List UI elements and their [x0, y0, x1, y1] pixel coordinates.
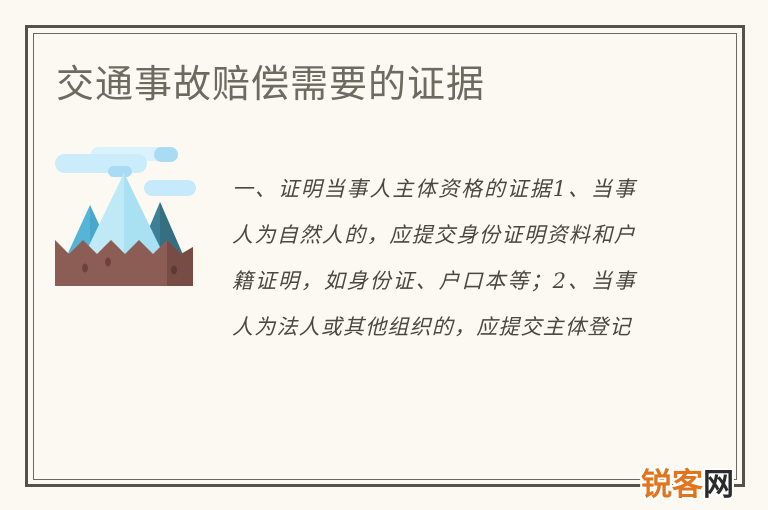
- page-title: 交通事故赔偿需要的证据: [56, 58, 485, 110]
- mountain-illustration-svg: [50, 144, 198, 304]
- cloud-bar-lower-right: [144, 180, 196, 196]
- mountain-landscape-illustration: [50, 144, 198, 304]
- rock-dot-2: [105, 258, 111, 267]
- rock-dot-1: [82, 264, 88, 273]
- watermark-text-secondary: 网: [703, 467, 734, 503]
- document-page: 交通事故赔偿需要的证据: [0, 0, 768, 510]
- watermark-text-primary: 锐客: [641, 467, 703, 503]
- body-paragraph: 一、证明当事人主体资格的证据1、当事人为自然人的，应提交身份证明资料和户籍证明，…: [232, 166, 636, 350]
- cloud-cap-right: [154, 147, 178, 162]
- rock-dot-3: [171, 266, 177, 275]
- ground-shade: [167, 240, 193, 286]
- cloud-nub: [108, 166, 132, 177]
- cloud-bar-main: [55, 154, 147, 173]
- site-watermark: 锐客网: [641, 468, 734, 502]
